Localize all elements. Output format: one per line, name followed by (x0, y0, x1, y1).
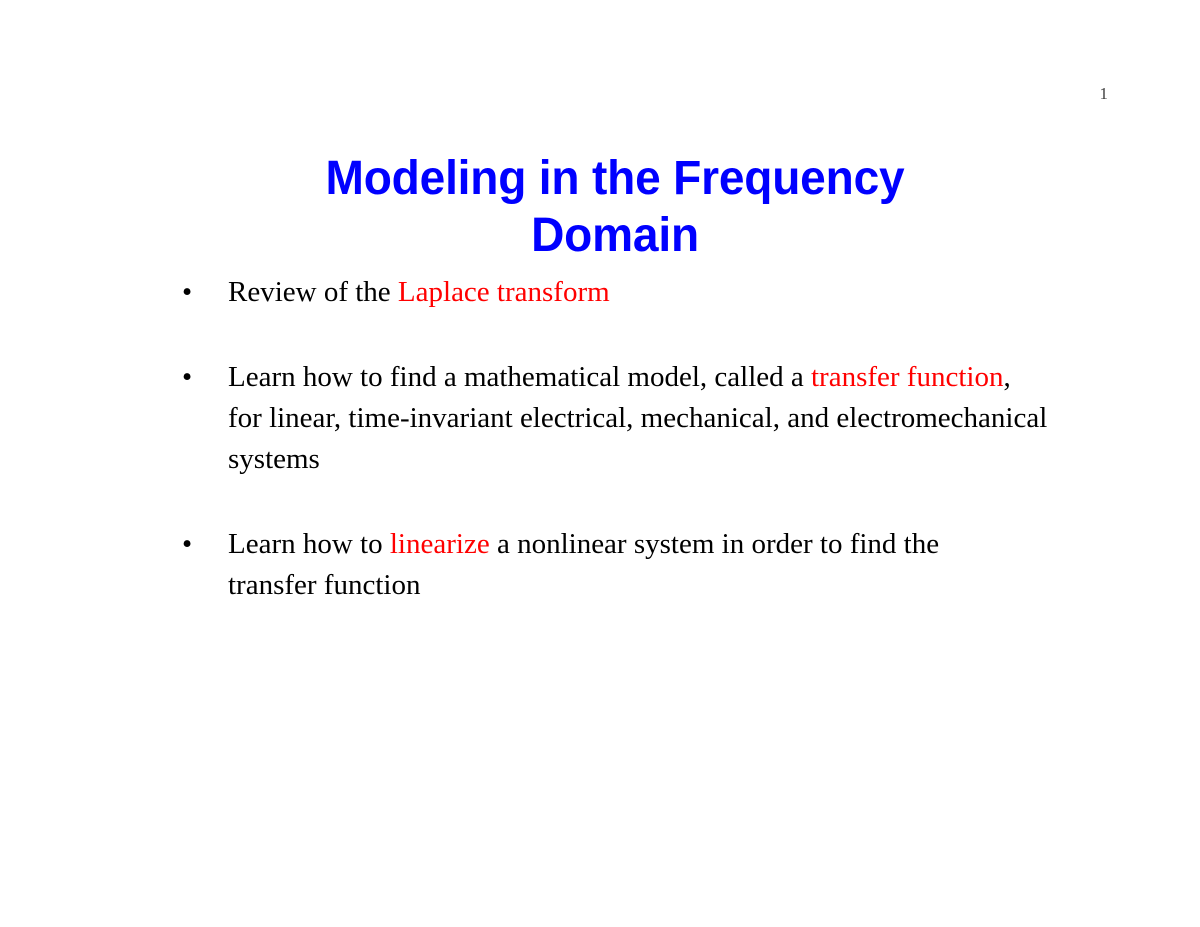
text-segment-plain: Review of the (228, 276, 398, 308)
bullet-point-icon: • (182, 272, 196, 313)
text-segment-highlight: linearize (390, 528, 490, 560)
list-item-text: Learn how to linearize a nonlinear syste… (228, 524, 1028, 606)
list-item: • Learn how to find a mathematical model… (176, 357, 1048, 480)
page-title-line-1: Modeling in the Frequency (188, 150, 1042, 207)
bullet-list: • Review of the Laplace transform • Lear… (176, 272, 1056, 606)
list-item-text: Learn how to find a mathematical model, … (228, 357, 1048, 480)
list-item-text: Review of the Laplace transform (228, 272, 1056, 313)
list-item: • Learn how to linearize a nonlinear sys… (176, 524, 1028, 606)
page-number: 1 (1100, 85, 1109, 102)
bullet-point-icon: • (182, 357, 196, 398)
bullet-point-icon: • (182, 524, 196, 565)
text-segment-plain: Learn how to (228, 528, 390, 560)
page-title-line-2: Domain (188, 207, 1042, 264)
text-segment-highlight: Laplace transform (398, 276, 610, 308)
text-segment-highlight: transfer function (811, 361, 1003, 393)
slide-canvas: 1 Modeling in the Frequency Domain • Rev… (0, 0, 1200, 927)
page-title: Modeling in the Frequency Domain (188, 150, 1042, 264)
text-segment-plain: Learn how to find a mathematical model, … (228, 361, 811, 393)
list-item: • Review of the Laplace transform (176, 272, 1056, 313)
